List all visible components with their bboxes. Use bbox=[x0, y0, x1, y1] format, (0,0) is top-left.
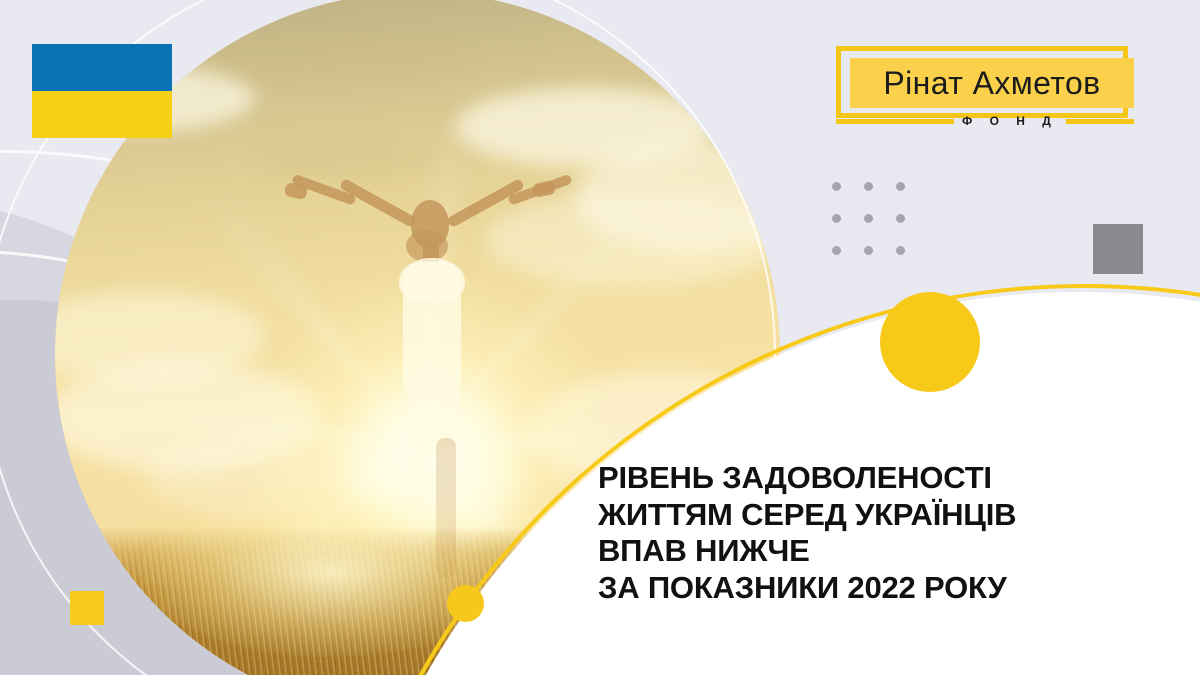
decor-yellow-circle-small bbox=[447, 585, 484, 622]
grid-dot bbox=[832, 182, 841, 191]
grid-dot bbox=[896, 214, 905, 223]
decor-yellow-circle-large bbox=[880, 292, 980, 392]
decor-grey-square bbox=[1093, 224, 1143, 274]
grid-dot bbox=[864, 214, 873, 223]
logo-subtitle-row: Ф О Н Д bbox=[836, 112, 1134, 130]
decor-yellow-square bbox=[70, 591, 104, 625]
logo-name-text: Рінат Ахметов bbox=[883, 65, 1100, 102]
grid-dot bbox=[896, 182, 905, 191]
flag-stripe-blue bbox=[32, 44, 172, 91]
grid-dot bbox=[832, 214, 841, 223]
grid-dot bbox=[864, 246, 873, 255]
grid-dot bbox=[864, 182, 873, 191]
grid-dot bbox=[832, 246, 841, 255]
ukrainian-flag bbox=[32, 44, 172, 138]
logo-bar-left bbox=[836, 119, 954, 124]
grid-dot bbox=[896, 246, 905, 255]
banner-canvas: Рінат Ахметов Ф О Н Д РІВЕНЬ ЗАДОВОЛЕНОС… bbox=[0, 0, 1200, 675]
headline-line-3: ВПАВ НИЖЧЕ bbox=[598, 533, 1174, 570]
logo-bar-right bbox=[1066, 119, 1134, 124]
headline-line-2: ЖИТТЯМ СЕРЕД УКРАЇНЦІВ bbox=[598, 497, 1174, 534]
foundation-logo[interactable]: Рінат Ахметов Ф О Н Д bbox=[836, 46, 1134, 138]
headline-line-4: ЗА ПОКАЗНИКИ 2022 РОКУ bbox=[598, 570, 1174, 607]
decor-dot-grid bbox=[820, 170, 916, 266]
logo-subtitle-text: Ф О Н Д bbox=[962, 114, 1058, 128]
logo-plate: Рінат Ахметов bbox=[850, 58, 1134, 108]
headline: РІВЕНЬ ЗАДОВОЛЕНОСТІ ЖИТТЯМ СЕРЕД УКРАЇН… bbox=[598, 460, 1174, 607]
flag-stripe-yellow bbox=[32, 91, 172, 138]
headline-line-1: РІВЕНЬ ЗАДОВОЛЕНОСТІ bbox=[598, 460, 1174, 497]
